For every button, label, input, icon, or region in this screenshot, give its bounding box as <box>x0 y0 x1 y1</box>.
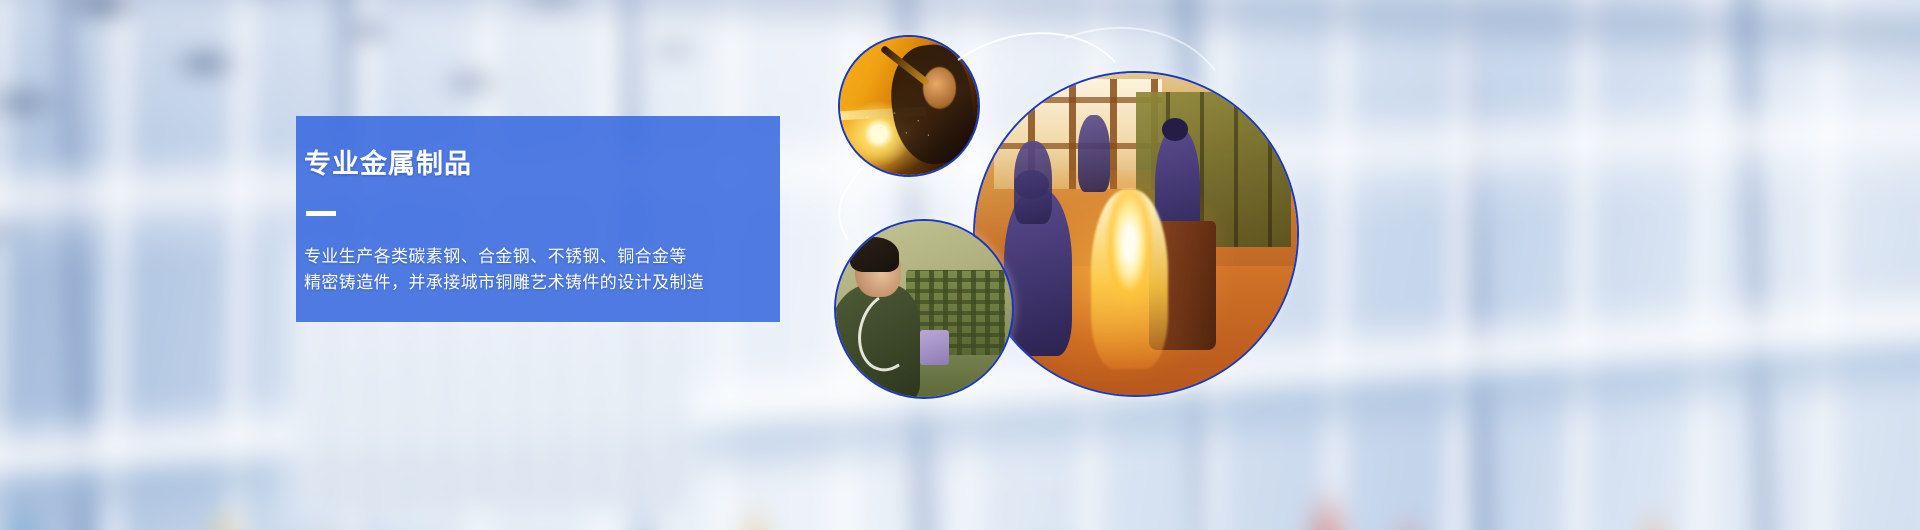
technician-hair <box>850 237 899 272</box>
inspection-photo-art <box>836 221 1012 397</box>
inspection-photo <box>834 219 1014 399</box>
foundry-worker <box>1078 115 1110 192</box>
foundry-photo <box>973 71 1299 397</box>
welding-sparks <box>857 101 943 156</box>
foundry-worker-head <box>1162 118 1188 141</box>
molten-metal-pour <box>1091 189 1168 369</box>
foundry-photo-art <box>975 73 1297 395</box>
hero-banner: 专业金属制品 专业生产各类碳素钢、合金钢、不锈钢、铜合金等 精密铸造件，并承接城… <box>0 0 1920 530</box>
inspection-hand-tool <box>920 330 948 365</box>
foundry-worker <box>1014 141 1053 225</box>
photo-cluster <box>0 0 1920 530</box>
welding-photo-art <box>840 37 978 175</box>
welding-photo <box>838 35 980 177</box>
